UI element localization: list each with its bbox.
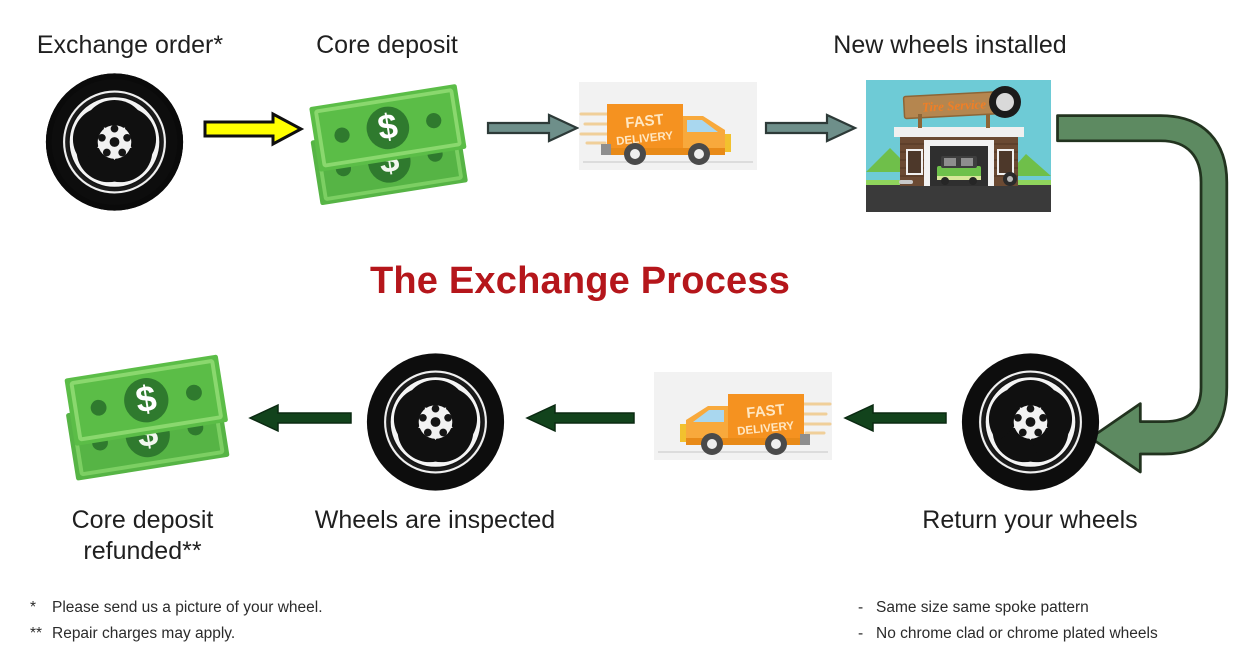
alloy-wheel-icon-return bbox=[953, 352, 1108, 492]
green-arrow-left-truck-to-inspect bbox=[525, 403, 635, 433]
footnote-right-1: -Same size same spoke pattern bbox=[858, 595, 1248, 621]
footnotes-left: *Please send us a picture of your wheel.… bbox=[30, 595, 450, 646]
cash-banknotes-icon-bottom: $ $ bbox=[58, 352, 240, 484]
cash-banknotes-icon-top: $ $ bbox=[303, 84, 478, 206]
footnote-right-1-text: Same size same spoke pattern bbox=[876, 599, 1089, 616]
footnote-right-2-text: No chrome clad or chrome plated wheels bbox=[876, 625, 1158, 642]
fast-delivery-truck-icon-bottom: FAST DELIVERY bbox=[654, 372, 832, 460]
label-core-deposit: Core deposit bbox=[258, 30, 516, 61]
footnote-left-1: *Please send us a picture of your wheel. bbox=[30, 595, 450, 621]
footnotes-right: -Same size same spoke pattern -No chrome… bbox=[858, 595, 1248, 646]
page-title: The Exchange Process bbox=[0, 260, 1160, 303]
yellow-arrow-right bbox=[203, 112, 303, 146]
fast-delivery-truck-icon-top: FAST DELIVERY bbox=[579, 82, 757, 170]
slate-arrow-right-truck-to-shop bbox=[765, 113, 857, 143]
footnote-right-2: -No chrome clad or chrome plated wheels bbox=[858, 621, 1248, 647]
slate-arrow-right-deposit-to-truck bbox=[487, 113, 579, 143]
footnote-left-2: **Repair charges may apply. bbox=[30, 621, 450, 647]
label-core-deposit-refunded-line1: Core deposit bbox=[35, 505, 250, 536]
footnote-left-2-text: Repair charges may apply. bbox=[52, 625, 235, 642]
footnote-right-1-marker: - bbox=[858, 595, 876, 621]
footnote-left-1-text: Please send us a picture of your wheel. bbox=[52, 599, 323, 616]
label-new-wheels-installed: New wheels installed bbox=[790, 30, 1110, 61]
label-exchange-order: Exchange order* bbox=[0, 30, 260, 61]
footnote-left-1-marker: * bbox=[30, 595, 52, 621]
alloy-wheel-icon-inspected bbox=[358, 352, 513, 492]
green-arrow-left-inspect-to-refund bbox=[248, 403, 352, 433]
footnote-left-2-marker: ** bbox=[30, 621, 52, 647]
label-wheels-are-inspected: Wheels are inspected bbox=[300, 505, 570, 536]
green-arrow-left-return-to-truck bbox=[843, 403, 947, 433]
footnote-right-2-marker: - bbox=[858, 621, 876, 647]
tire-service-shop-icon: Tire Service bbox=[866, 80, 1051, 212]
alloy-wheel-icon-top-left bbox=[37, 72, 192, 212]
label-core-deposit-refunded: Core deposit refunded** bbox=[35, 505, 250, 566]
label-core-deposit-refunded-line2: refunded** bbox=[35, 536, 250, 567]
exchange-process-diagram: Exchange order* Core deposit New wheels … bbox=[0, 0, 1250, 666]
label-return-your-wheels: Return your wheels bbox=[895, 505, 1165, 536]
